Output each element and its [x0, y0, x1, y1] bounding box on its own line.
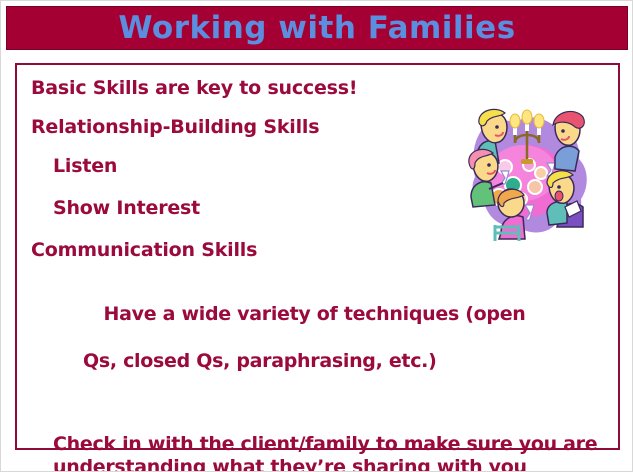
list-item-continuation: Qs, closed Qs, paraphrasing, etc.)	[53, 350, 593, 373]
list-item: Check in with the client/family to make …	[31, 433, 608, 472]
slide: Working with Families Basic Skills are k…	[0, 0, 633, 472]
slide-content-box: Basic Skills are key to success! Relatio…	[15, 63, 620, 450]
slide-title-bar: Working with Families	[6, 6, 628, 50]
list-item: Basic Skills are key to success!	[31, 79, 591, 98]
family-dinner-table-clipart	[463, 101, 593, 243]
list-item: Have a wide variety of techniques (open …	[31, 280, 593, 419]
list-item-text: Have a wide variety of techniques (open	[104, 303, 526, 325]
page-title: Working with Families	[118, 13, 515, 44]
list-item: Communication Skills	[31, 241, 591, 260]
